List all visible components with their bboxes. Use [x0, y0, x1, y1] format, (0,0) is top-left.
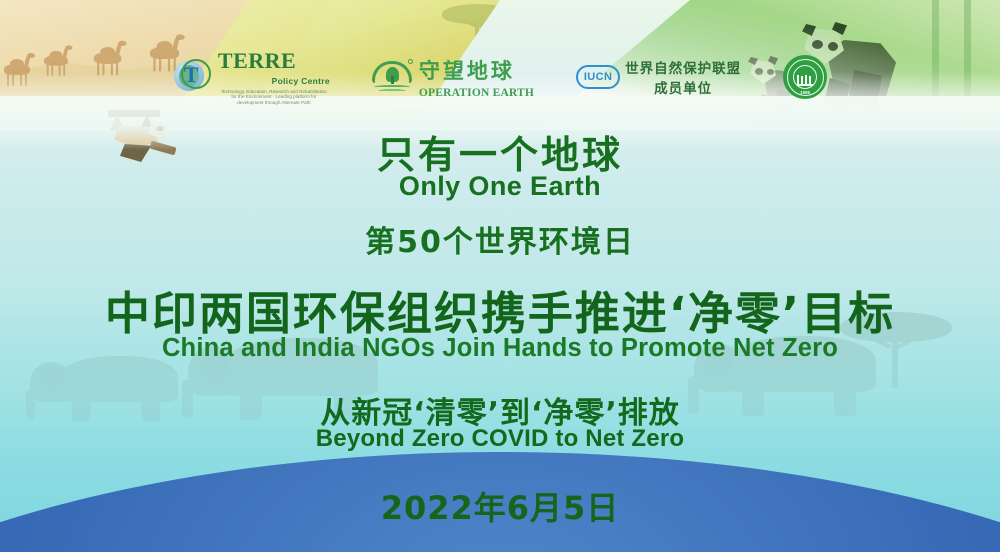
subhead-en: Beyond Zero COVID to Net Zero	[0, 425, 1000, 453]
poster-copy: 只有一个地球 Only One Earth 第50个世界环境日 中印两国环保组织…	[0, 0, 1000, 552]
headline-en: China and India NGOs Join Hands to Promo…	[0, 334, 1000, 363]
event-date: 2022年6月5日	[0, 483, 1000, 529]
occasion-cn: 第50个世界环境日	[0, 217, 1000, 261]
theme-en: Only One Earth	[0, 171, 1000, 202]
world-environment-day-poster: T TERRE Policy Centre Technology, Educat…	[0, 0, 1000, 552]
headline-cn: 中印两国环保组织携手推进‘净零’目标	[0, 277, 1000, 342]
